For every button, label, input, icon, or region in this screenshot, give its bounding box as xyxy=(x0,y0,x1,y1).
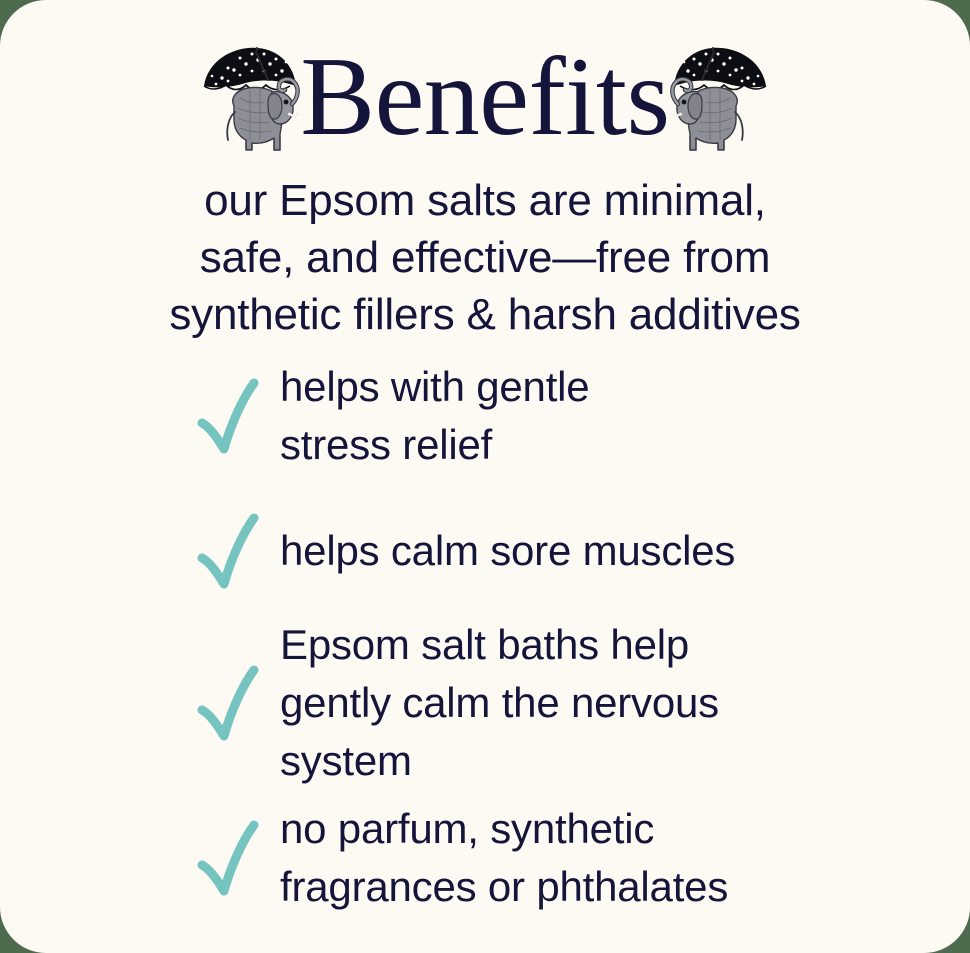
list-item-line: no parfum, synthetic xyxy=(280,800,728,858)
benefits-list: helps with gentle stress relief helps ca… xyxy=(196,356,896,916)
check-icon xyxy=(196,500,270,600)
subtitle: our Epsom salts are minimal, safe, and e… xyxy=(0,172,970,343)
list-item-line: helps calm sore muscles xyxy=(280,522,735,580)
check-icon xyxy=(196,652,270,752)
subtitle-line: safe, and effective—free from xyxy=(0,229,970,286)
list-item-text: Epsom salt baths help gently calm the ne… xyxy=(280,614,719,790)
list-item: no parfum, synthetic fragrances or phtha… xyxy=(196,798,896,916)
subtitle-line: our Epsom salts are minimal, xyxy=(0,172,970,229)
elephant-with-umbrella-icon xyxy=(664,40,776,168)
check-icon xyxy=(196,365,270,465)
subtitle-line: synthetic fillers & harsh additives xyxy=(0,286,970,343)
list-item-text: helps with gentle stress relief xyxy=(280,356,589,474)
list-item: helps calm sore muscles xyxy=(196,500,896,600)
page-title: Benefits xyxy=(300,41,669,167)
list-item-line: gently calm the nervous xyxy=(280,674,719,732)
list-item: helps with gentle stress relief xyxy=(196,356,896,474)
list-item-line: Epsom salt baths help xyxy=(280,616,719,674)
list-item-line: fragrances or phthalates xyxy=(280,858,728,916)
list-item-text: helps calm sore muscles xyxy=(280,520,735,580)
list-item: Epsom salt baths help gently calm the ne… xyxy=(196,614,896,790)
list-item-line: stress relief xyxy=(280,416,589,474)
list-item-text: no parfum, synthetic fragrances or phtha… xyxy=(280,798,728,916)
header: Benefits xyxy=(0,34,970,174)
elephant-with-umbrella-icon xyxy=(194,40,306,168)
benefits-card: Benefits xyxy=(0,0,970,953)
list-item-line: system xyxy=(280,732,719,790)
list-item-line: helps with gentle xyxy=(280,358,589,416)
check-icon xyxy=(196,807,270,907)
